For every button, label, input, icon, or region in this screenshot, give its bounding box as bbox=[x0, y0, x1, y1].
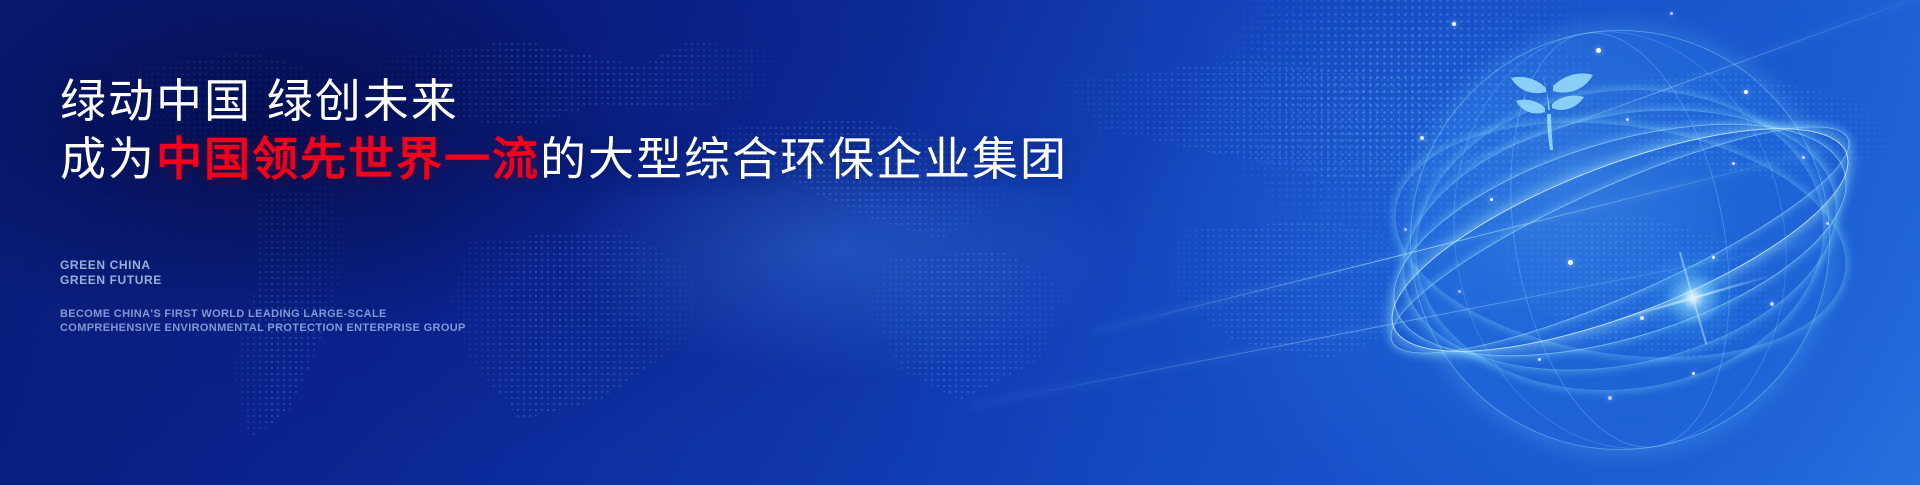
headline-secondary-prefix: 成为 bbox=[60, 133, 156, 185]
light-streak bbox=[1091, 148, 1829, 333]
globe-orbit-ring bbox=[1366, 83, 1873, 397]
headline-primary: 绿动中国 绿创未来 bbox=[60, 78, 459, 124]
globe-orbit-ring bbox=[1379, 94, 1862, 385]
light-burst bbox=[1633, 238, 1753, 358]
headline-secondary-highlight: 中国领先世界一流 bbox=[156, 133, 540, 185]
headline-secondary: 成为中国领先世界一流的大型综合环保企业集团 bbox=[60, 136, 1068, 182]
wireframe-globe bbox=[1340, 0, 1900, 485]
globe-orbit-ring bbox=[1379, 72, 1861, 408]
english-subtitle: BECOME CHINA'S FIRST WORLD LEADING LARGE… bbox=[60, 308, 466, 335]
globe-core bbox=[1410, 30, 1830, 450]
globe-rim bbox=[1410, 30, 1830, 450]
light-streak bbox=[968, 234, 1852, 407]
globe-orbit-ring bbox=[1398, 66, 1842, 414]
english-tagline: GREEN CHINA GREEN FUTURE bbox=[60, 258, 162, 288]
hex-dot-texture bbox=[1150, 0, 1590, 290]
globe-meridian bbox=[1421, 5, 1819, 476]
globe-meridian bbox=[1480, 15, 1760, 465]
headline-secondary-suffix: 的大型综合环保企业集团 bbox=[540, 133, 1068, 185]
globe-orbit-ring bbox=[1369, 88, 1871, 392]
light-streak bbox=[1398, 0, 1920, 187]
hero-banner: 绿动中国 绿创未来 成为中国领先世界一流的大型综合环保企业集团 GREEN CH… bbox=[0, 0, 1920, 485]
star-particles bbox=[1340, 0, 1900, 485]
globe-orbit-ring bbox=[1367, 78, 1874, 403]
sprout-leaf-icon bbox=[1508, 58, 1594, 154]
banner-copy: 绿动中国 绿创未来 成为中国领先世界一流的大型综合环保企业集团 GREEN CH… bbox=[60, 0, 1060, 485]
